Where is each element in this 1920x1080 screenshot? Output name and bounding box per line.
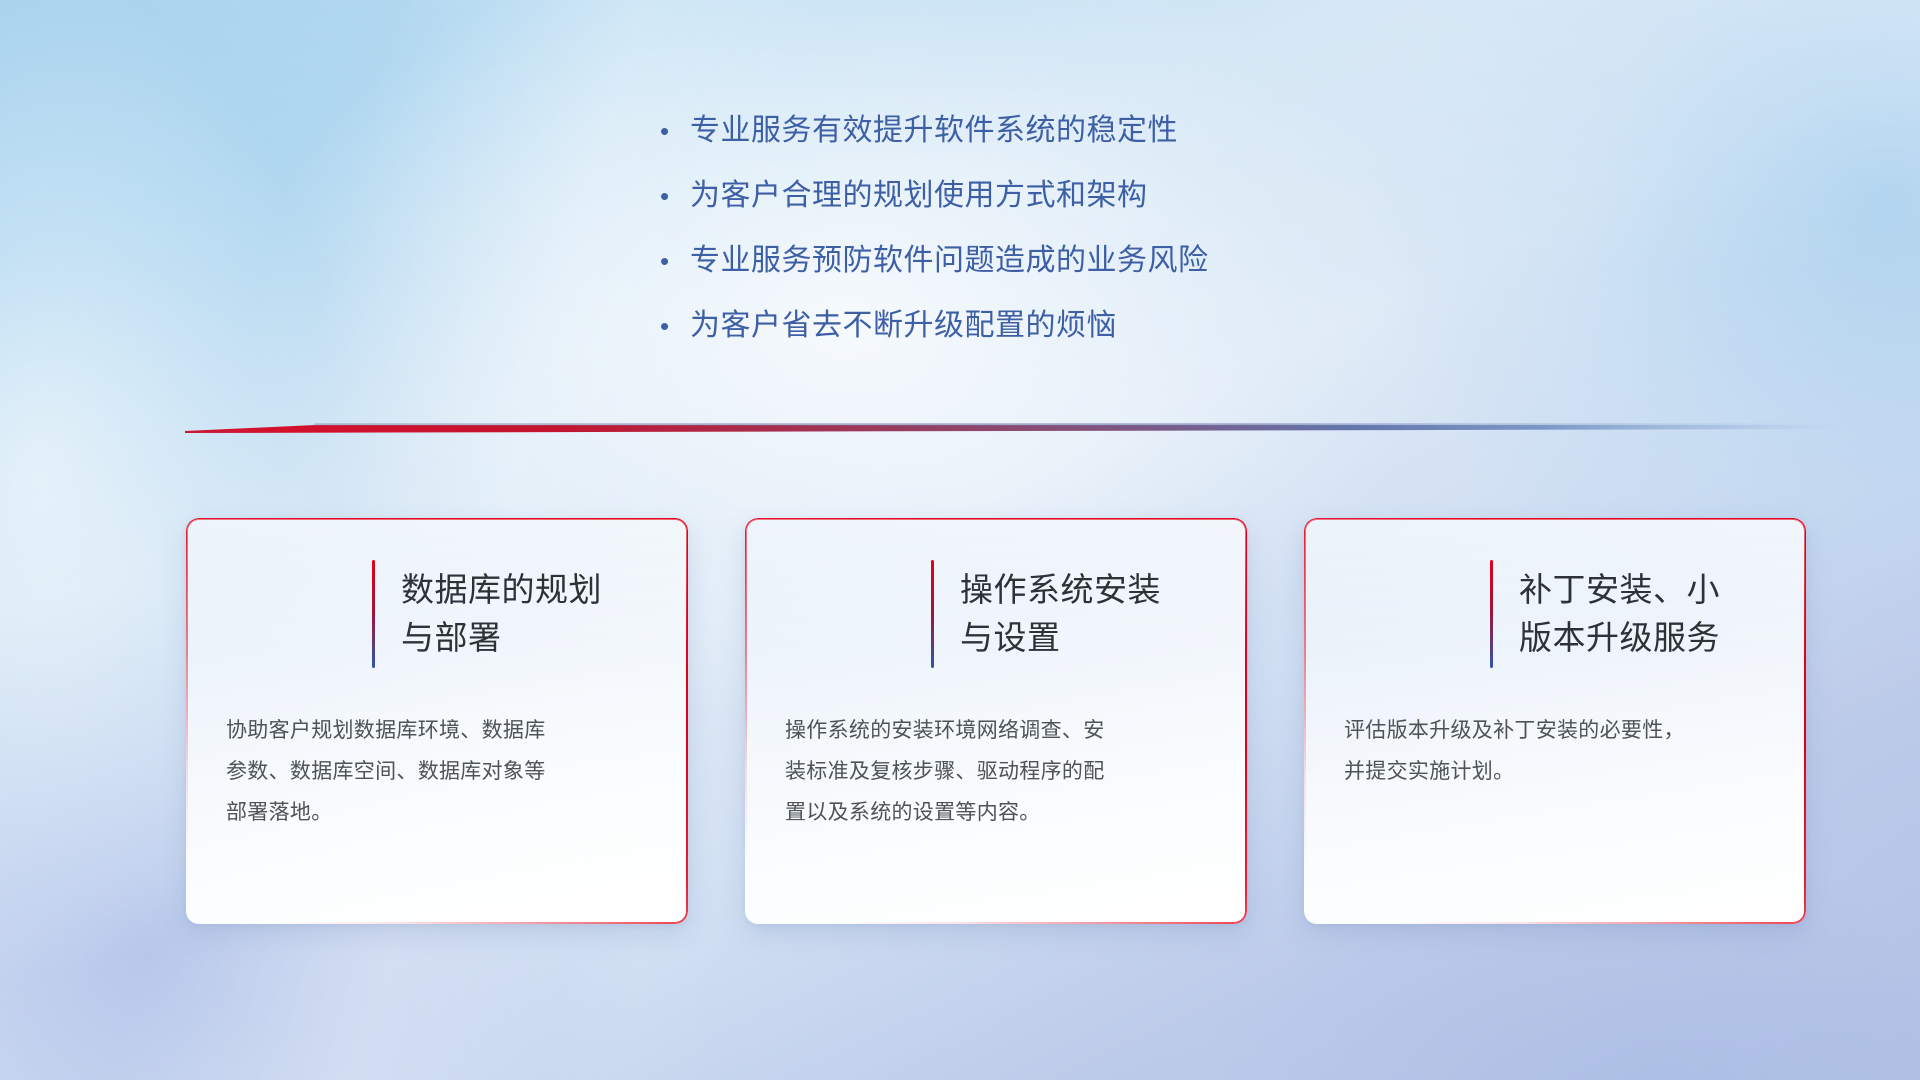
benefits-bullet-list: • 专业服务有效提升软件系统的稳定性 • 为客户合理的规划使用方式和架构 • 专… — [660, 110, 1420, 370]
bullet-label: 为客户合理的规划使用方式和架构 — [690, 175, 1148, 217]
card-title: 操作系统安装 与设置 — [960, 566, 1161, 662]
card-description: 评估版本升级及补丁安装的必要性， 并提交实施计划。 — [1304, 710, 1806, 792]
slide-canvas: • 专业服务有效提升软件系统的稳定性 • 为客户合理的规划使用方式和架构 • 专… — [0, 0, 1920, 1080]
service-card[interactable]: 02 — [745, 518, 1247, 924]
card-number-graphic: 02 — [763, 546, 923, 686]
card-header: 01 — [186, 518, 688, 710]
list-item: • 专业服务预防软件问题造成的业务风险 — [660, 240, 1420, 305]
bullet-label: 专业服务预防软件问题造成的业务风险 — [690, 240, 1209, 282]
card-title-separator — [1490, 560, 1493, 668]
list-item: • 专业服务有效提升软件系统的稳定性 — [660, 110, 1420, 175]
card-title-separator — [931, 560, 934, 668]
bullet-point-icon: • — [660, 305, 690, 347]
card-title: 数据库的规划 与部署 — [401, 566, 602, 662]
bullet-label: 为客户省去不断升级配置的烦恼 — [690, 305, 1117, 347]
card-title: 补丁安装、小 版本升级服务 — [1519, 566, 1720, 662]
card-title-separator — [372, 560, 375, 668]
card-description: 协助客户规划数据库环境、数据库 参数、数据库空间、数据库对象等 部署落地。 — [186, 710, 688, 833]
service-card-row: 01 — [186, 518, 1806, 928]
bullet-point-icon: • — [660, 175, 690, 217]
list-item: • 为客户省去不断升级配置的烦恼 — [660, 305, 1420, 370]
card-number-graphic: 01 — [204, 546, 364, 686]
service-card[interactable]: 01 — [186, 518, 688, 924]
list-item: • 为客户合理的规划使用方式和架构 — [660, 175, 1420, 240]
bullet-point-icon: • — [660, 240, 690, 282]
service-card[interactable]: 03 — [1304, 518, 1806, 924]
card-header: 02 — [745, 518, 1247, 710]
section-divider — [185, 418, 1845, 438]
bullet-point-icon: • — [660, 110, 690, 152]
card-header: 03 — [1304, 518, 1806, 710]
card-description: 操作系统的安装环境网络调查、安 装标准及复核步骤、驱动程序的配 置以及系统的设置… — [745, 710, 1247, 833]
card-number-graphic: 03 — [1322, 546, 1482, 686]
bullet-label: 专业服务有效提升软件系统的稳定性 — [690, 110, 1178, 152]
